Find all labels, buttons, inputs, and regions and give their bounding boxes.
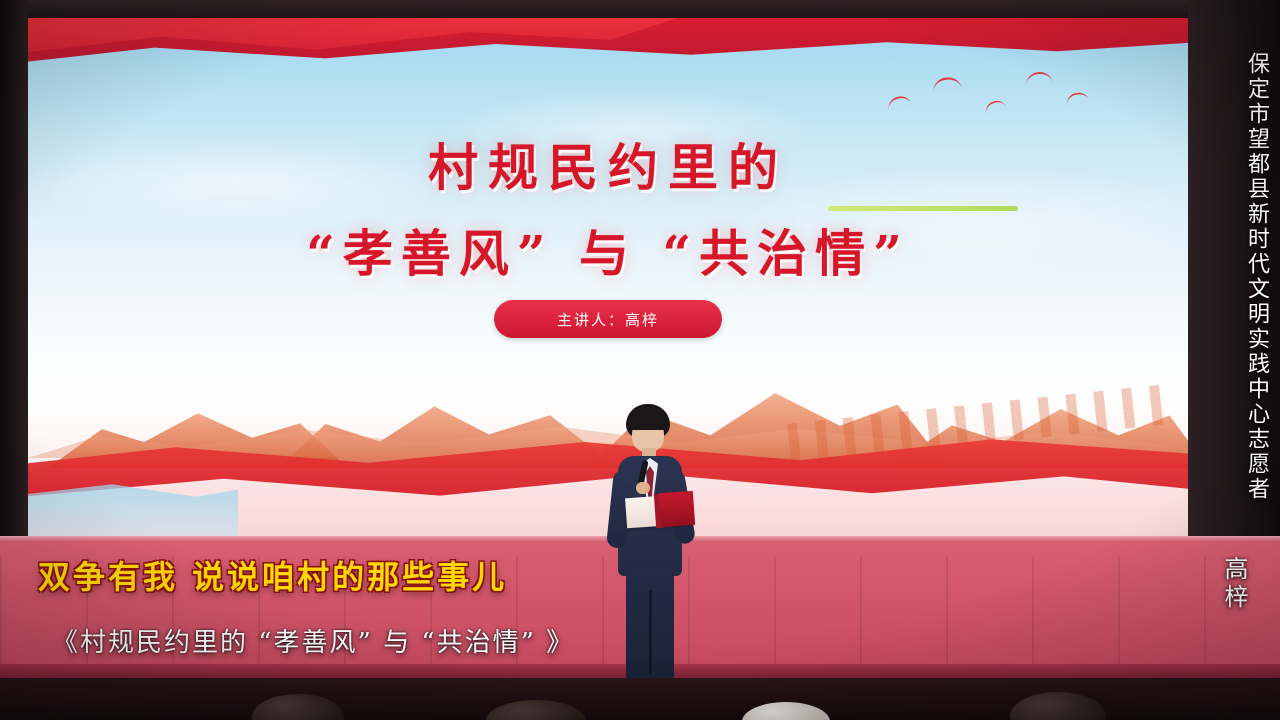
birds-flock: [878, 70, 1108, 140]
bird-icon: [886, 94, 911, 110]
episode-title-caption: 《村规民约里的 “孝善风” 与 “共治情” 》: [52, 622, 574, 659]
bird-icon: [1065, 91, 1089, 106]
hall-ceiling-band: [0, 0, 1280, 18]
presenter-hand: [636, 482, 650, 494]
screenshot-root: 村规民约里的 “孝善风” 与 “共治情” 主讲人：高梓: [0, 0, 1280, 720]
speaker-pill-label: 主讲人：高梓: [557, 309, 659, 330]
bird-icon: [1026, 71, 1053, 85]
speaker-name-vertical: 高梓: [1217, 556, 1252, 612]
presenter-figure: [600, 404, 710, 704]
bird-icon: [932, 76, 962, 92]
organization-credit-vertical: 保定市望都县新时代文明实践中心志愿者: [1240, 52, 1272, 502]
speaker-pill: 主讲人：高梓: [494, 300, 722, 338]
program-title-caption: 双争有我 说说咱村的那些事儿: [38, 552, 507, 598]
open-book-cover: [659, 491, 695, 527]
presenter-leg-seam: [649, 590, 652, 674]
hall-left-wall: [0, 0, 28, 560]
presenter-hair-fringe: [627, 414, 669, 430]
bird-icon: [984, 98, 1007, 114]
